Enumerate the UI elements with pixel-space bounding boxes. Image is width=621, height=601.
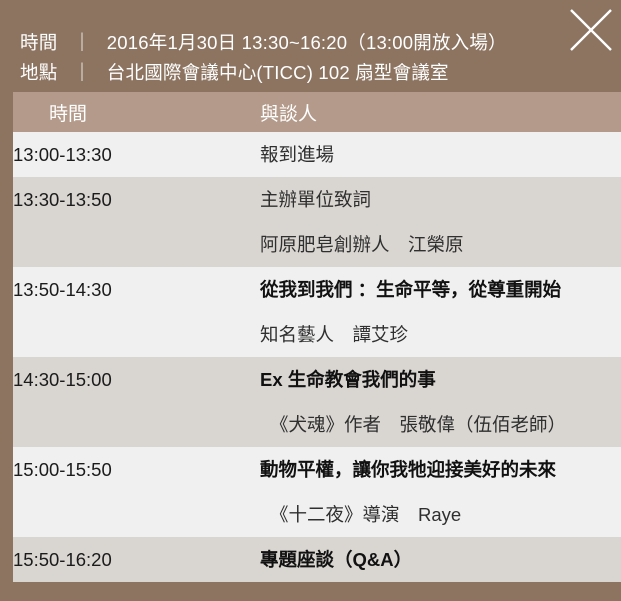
row-time: 13:00-13:30 — [13, 132, 260, 177]
column-header-guest: 與談人 — [260, 92, 621, 132]
table-row: 15:00-15:50動物平權，讓你我牠迎接美好的未來《十二夜》導演 Raye — [13, 447, 621, 537]
table-row: 14:30-15:00Ex 生命教會我們的事《犬魂》作者 張敬偉（伍佰老師） — [13, 357, 621, 447]
table-row: 13:30-13:50主辦單位致詞阿原肥皂創辦人 江榮原 — [13, 177, 621, 267]
table-row: 13:00-13:30報到進場 — [13, 132, 621, 177]
session-speaker: 知名藝人 譚艾珍 — [260, 312, 621, 357]
table-row: 13:50-14:30從我到我們 ：生命平等，從尊重開始知名藝人 譚艾珍 — [13, 267, 621, 357]
session-title: 動物平權，讓你我牠迎接美好的未來 — [260, 447, 621, 492]
column-header-time: 時間 — [13, 92, 260, 132]
session-speaker: 主辦單位致詞 — [260, 177, 621, 222]
row-guest: 專題座談（Q&A） — [260, 537, 621, 582]
schedule-body: 13:00-13:30報到進場13:30-13:50主辦單位致詞阿原肥皂創辦人 … — [13, 132, 621, 582]
row-guest: 從我到我們 ：生命平等，從尊重開始知名藝人 譚艾珍 — [260, 267, 621, 357]
row-guest: 動物平權，讓你我牠迎接美好的未來《十二夜》導演 Raye — [260, 447, 621, 537]
session-speaker: 報到進場 — [260, 132, 621, 177]
event-place-value: 台北國際會議中心(TICC) 102 扇型會議室 — [107, 62, 449, 83]
session-speaker: 阿原肥皂創辦人 江榮原 — [260, 222, 621, 267]
table-row: 15:50-16:20專題座談（Q&A） — [13, 537, 621, 582]
event-time-row: 時間 ｜ 2016年1月30日 13:30~16:20（13:00開放入場） — [20, 28, 507, 58]
row-time: 15:50-16:20 — [13, 537, 260, 582]
session-title: 專題座談（Q&A） — [260, 537, 621, 582]
row-time: 15:00-15:50 — [13, 447, 260, 537]
row-time: 14:30-15:00 — [13, 357, 260, 447]
event-place-row: 地點 ｜ 台北國際會議中心(TICC) 102 扇型會議室 — [20, 58, 507, 88]
row-guest: 主辦單位致詞阿原肥皂創辦人 江榮原 — [260, 177, 621, 267]
schedule-header-row: 時間 與談人 — [13, 92, 621, 132]
session-speaker: 《犬魂》作者 張敬偉（伍佰老師） — [260, 402, 621, 447]
event-info: 時間 ｜ 2016年1月30日 13:30~16:20（13:00開放入場） 地… — [20, 28, 507, 88]
row-time: 13:30-13:50 — [13, 177, 260, 267]
info-separator-1: ｜ — [63, 28, 102, 58]
close-icon — [567, 6, 615, 54]
session-title: Ex 生命教會我們的事 — [260, 357, 621, 402]
event-time-label: 時間 — [20, 32, 57, 53]
row-guest: Ex 生命教會我們的事《犬魂》作者 張敬偉（伍佰老師） — [260, 357, 621, 447]
event-time-value: 2016年1月30日 13:30~16:20（13:00開放入場） — [107, 32, 507, 53]
session-speaker: 《十二夜》導演 Raye — [260, 492, 621, 537]
info-separator-2: ｜ — [63, 58, 102, 88]
schedule-header: 時間 與談人 — [13, 92, 621, 132]
event-place-label: 地點 — [20, 62, 57, 83]
row-guest: 報到進場 — [260, 132, 621, 177]
session-title: 從我到我們 ：生命平等，從尊重開始 — [260, 267, 621, 312]
row-time: 13:50-14:30 — [13, 267, 260, 357]
schedule-table: 時間 與談人 13:00-13:30報到進場13:30-13:50主辦單位致詞阿… — [13, 92, 621, 582]
close-button[interactable] — [567, 6, 615, 54]
